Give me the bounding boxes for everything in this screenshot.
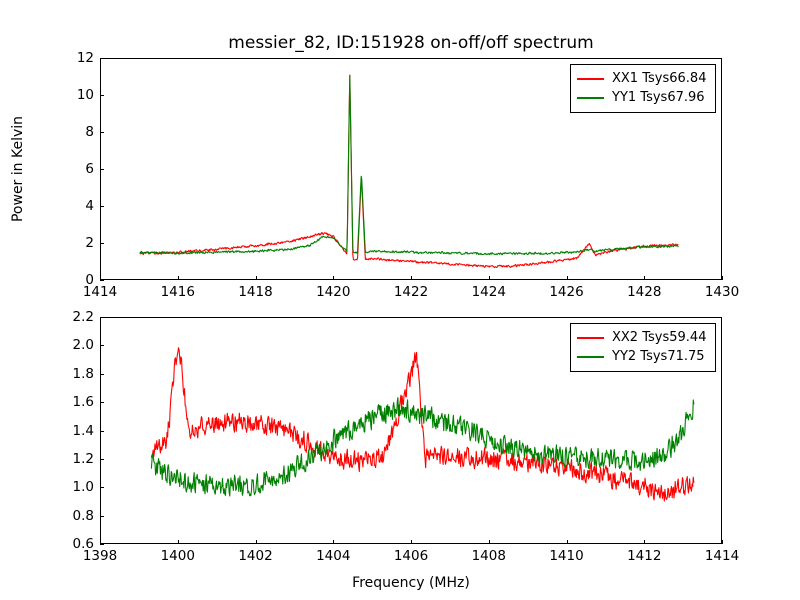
y-tick-label: 0.8 — [52, 508, 94, 524]
x-tick-label: 1414 — [705, 548, 739, 564]
x-tick-mark — [411, 540, 412, 544]
x-tick-mark — [567, 276, 568, 280]
x-tick-mark — [178, 540, 179, 544]
y-tick-label: 10 — [52, 87, 94, 103]
legend-label-yy2: YY2 Tsys71.75 — [612, 349, 705, 364]
x-tick-mark — [567, 540, 568, 544]
y-tick-label: 8 — [52, 124, 94, 140]
x-tick-label: 1400 — [161, 548, 195, 564]
y-tick-mark — [100, 345, 104, 346]
x-tick-mark — [722, 276, 723, 280]
y-tick-label: 1.6 — [52, 394, 94, 410]
y-tick-label: 1.8 — [52, 366, 94, 382]
x-tick-label: 1428 — [627, 284, 661, 300]
y-tick-label: 2.0 — [52, 337, 94, 353]
x-tick-mark — [333, 540, 334, 544]
legend-swatch-yy1 — [577, 97, 604, 99]
legend-item: YY1 Tsys67.96 — [577, 88, 709, 107]
x-tick-label: 1412 — [627, 548, 661, 564]
y-tick-label: 1.0 — [52, 479, 94, 495]
y-tick-mark — [100, 317, 104, 318]
y-tick-label: 0 — [52, 272, 94, 288]
y-tick-label: 1.4 — [52, 423, 94, 439]
y-tick-mark — [100, 459, 104, 460]
x-tick-mark — [178, 276, 179, 280]
matplotlib-figure: messier_82, ID:151928 on-off/off spectru… — [0, 0, 800, 600]
x-tick-label: 1408 — [472, 548, 506, 564]
y-tick-label: 0.6 — [52, 536, 94, 552]
x-tick-mark — [256, 276, 257, 280]
y-tick-mark — [100, 95, 104, 96]
x-tick-label: 1406 — [394, 548, 428, 564]
x-tick-label: 1420 — [316, 284, 350, 300]
legend-label-xx1: XX1 Tsys66.84 — [612, 71, 706, 86]
y-tick-mark — [100, 431, 104, 432]
y-tick-mark — [100, 280, 104, 281]
y-tick-mark — [100, 374, 104, 375]
x-tick-mark — [411, 276, 412, 280]
legend-item: YY2 Tsys71.75 — [577, 347, 709, 366]
bottom-legend: XX2 Tsys59.44 YY2 Tsys71.75 — [570, 323, 716, 372]
x-tick-label: 1422 — [394, 284, 428, 300]
x-tick-mark — [256, 540, 257, 544]
x-tick-label: 1402 — [238, 548, 272, 564]
legend-swatch-xx2 — [577, 337, 604, 339]
legend-label-xx2: XX2 Tsys59.44 — [612, 330, 706, 345]
legend-item: XX1 Tsys66.84 — [577, 69, 709, 88]
y-tick-label: 4 — [52, 198, 94, 214]
legend-item: XX2 Tsys59.44 — [577, 328, 709, 347]
y-tick-label: 6 — [52, 161, 94, 177]
x-tick-label: 1404 — [316, 548, 350, 564]
top-legend: XX1 Tsys66.84 YY1 Tsys67.96 — [570, 64, 716, 113]
legend-swatch-xx1 — [577, 78, 604, 80]
bottom-x-axis-label: Frequency (MHz) — [352, 575, 470, 591]
y-tick-label: 2.2 — [52, 309, 94, 325]
x-tick-mark — [333, 276, 334, 280]
y-tick-mark — [100, 206, 104, 207]
top-y-axis-label: Power in Kelvin — [10, 116, 26, 222]
x-tick-label: 1424 — [472, 284, 506, 300]
y-tick-label: 2 — [52, 235, 94, 251]
y-tick-mark — [100, 516, 104, 517]
y-tick-mark — [100, 487, 104, 488]
x-tick-label: 1430 — [705, 284, 739, 300]
legend-label-yy1: YY1 Tsys67.96 — [612, 90, 705, 105]
y-tick-mark — [100, 132, 104, 133]
legend-swatch-yy2 — [577, 356, 604, 358]
x-tick-mark — [644, 276, 645, 280]
y-tick-mark — [100, 169, 104, 170]
y-tick-label: 1.2 — [52, 451, 94, 467]
x-tick-mark — [489, 540, 490, 544]
x-tick-label: 1418 — [238, 284, 272, 300]
x-tick-label: 1426 — [549, 284, 583, 300]
y-tick-mark — [100, 544, 104, 545]
y-tick-mark — [100, 58, 104, 59]
x-tick-mark — [644, 540, 645, 544]
x-tick-label: 1410 — [549, 548, 583, 564]
page-title: messier_82, ID:151928 on-off/off spectru… — [100, 33, 722, 53]
x-tick-label: 1416 — [161, 284, 195, 300]
x-tick-mark — [722, 540, 723, 544]
y-tick-mark — [100, 402, 104, 403]
y-tick-label: 12 — [52, 50, 94, 66]
y-tick-mark — [100, 243, 104, 244]
x-tick-mark — [489, 276, 490, 280]
